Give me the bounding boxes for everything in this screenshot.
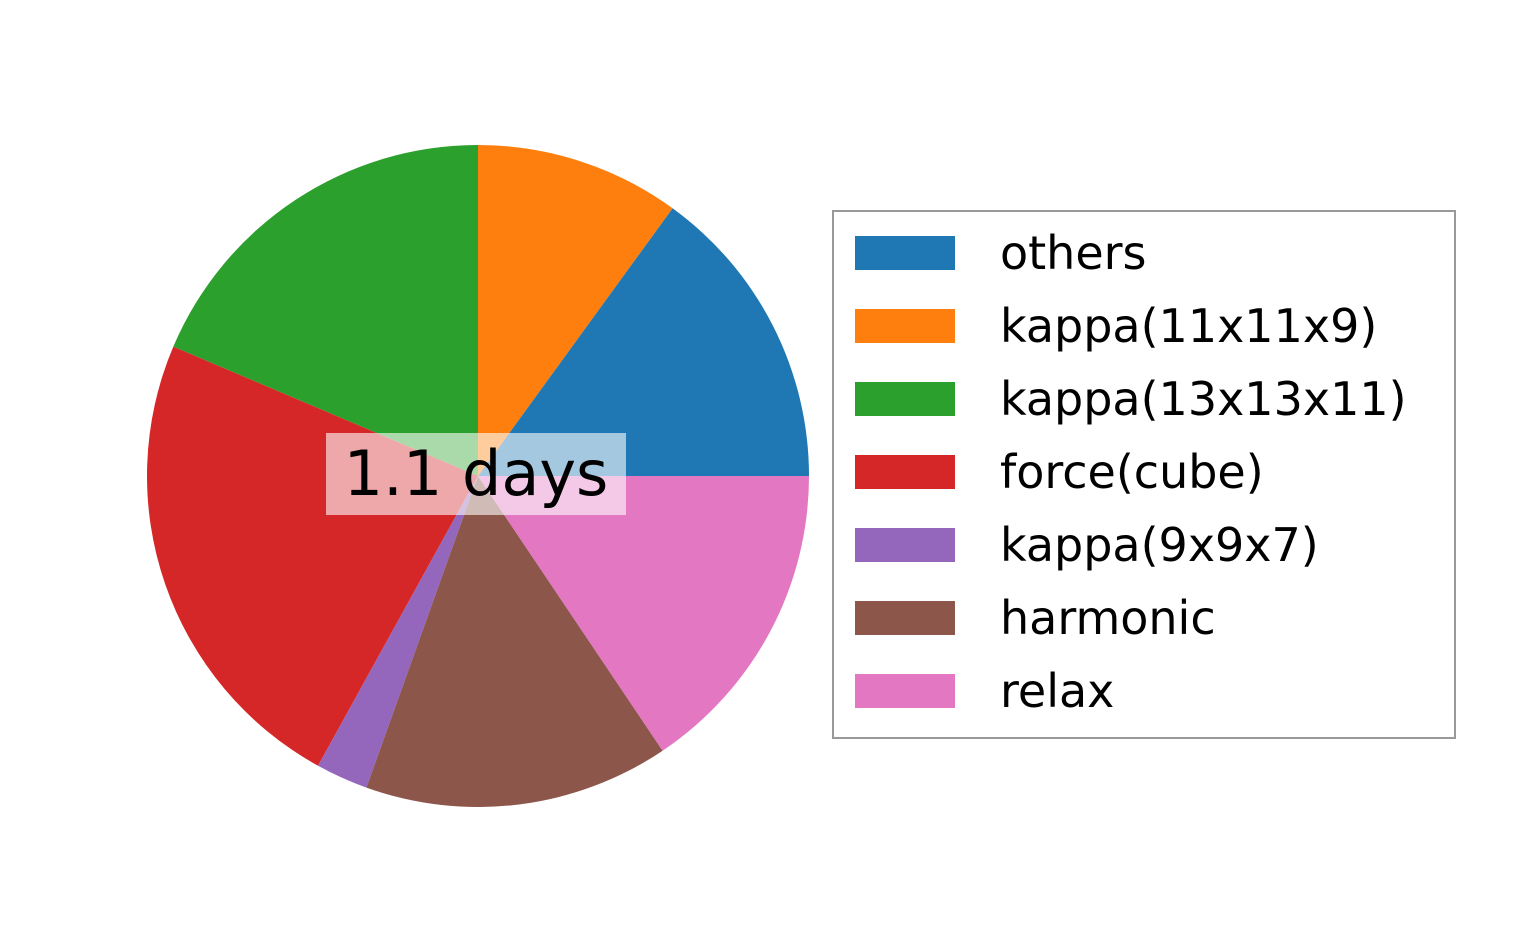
legend-item-harmonic[interactable]: harmonic [855,601,1216,635]
legend-box: otherskappa(11x11x9)kappa(13x13x11)force… [832,210,1456,739]
legend-swatch-icon [855,455,955,489]
legend-label: kappa(11x11x9) [1000,303,1377,349]
legend-label: harmonic [1000,595,1216,641]
legend-swatch-icon [855,674,955,708]
pie-svg [0,0,830,951]
legend-item-kappa-13x13x11-[interactable]: kappa(13x13x11) [855,382,1407,416]
legend-swatch-icon [855,236,955,270]
legend-label: relax [1000,668,1114,714]
legend-item-kappa-9x9x7-[interactable]: kappa(9x9x7) [855,528,1319,562]
pie-slice-group [147,145,809,807]
legend-label: others [1000,230,1147,276]
legend-item-kappa-11x11x9-[interactable]: kappa(11x11x9) [855,309,1377,343]
pie-plot-area: 1.1 days [0,0,830,951]
legend-swatch-icon [855,601,955,635]
legend-item-relax[interactable]: relax [855,674,1114,708]
legend-swatch-icon [855,528,955,562]
legend-label: force(cube) [1000,449,1264,495]
legend-item-others[interactable]: others [855,236,1147,270]
pie-chart-figure: 1.1 days otherskappa(11x11x9)kappa(13x13… [0,0,1514,951]
legend-label: kappa(9x9x7) [1000,522,1319,568]
legend-swatch-icon [855,309,955,343]
legend-label: kappa(13x13x11) [1000,376,1407,422]
legend-item-force-cube-[interactable]: force(cube) [855,455,1264,489]
legend-swatch-icon [855,382,955,416]
